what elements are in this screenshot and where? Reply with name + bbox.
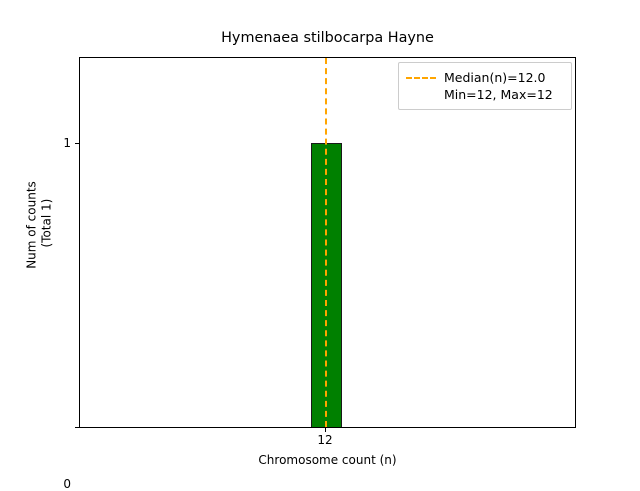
- page-title: Hymenaea stilbocarpa Hayne: [79, 30, 576, 47]
- legend: Median(n)=12.0 Min=12, Max=12: [398, 62, 572, 110]
- chart-figure: Hymenaea stilbocarpa Hayne Num of counts…: [0, 0, 640, 480]
- dashed-line-icon: [406, 77, 436, 79]
- x-tick-mark-12: [325, 428, 326, 432]
- y-axis-tick-labels: 0 1: [0, 57, 79, 428]
- plot-area: [79, 57, 576, 428]
- legend-label-range: Min=12, Max=12: [444, 86, 553, 103]
- x-tick-label-12: 12: [317, 434, 332, 446]
- legend-entry-median: Median(n)=12.0: [406, 69, 564, 86]
- y-tick-label-1: 1: [63, 137, 71, 149]
- median-line: [325, 58, 327, 427]
- x-axis-label: Chromosome count (n): [79, 453, 576, 467]
- y-tick-mark-1: [75, 143, 79, 144]
- legend-entry-range: Min=12, Max=12: [406, 86, 564, 103]
- legend-label-median: Median(n)=12.0: [444, 69, 545, 86]
